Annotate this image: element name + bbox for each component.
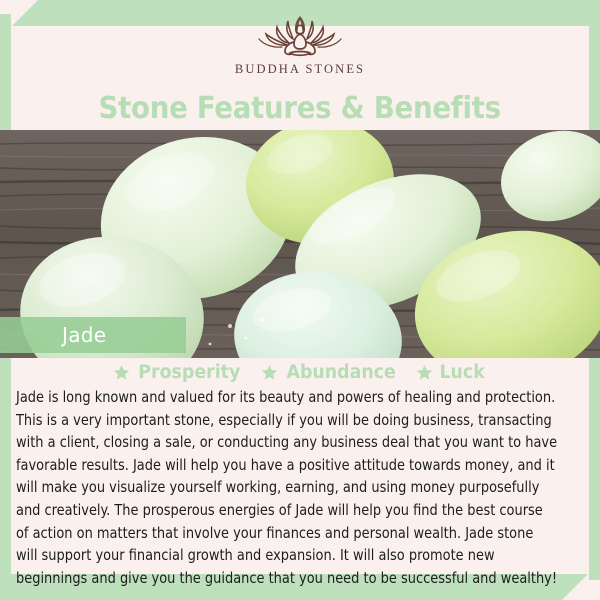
stone-name-label: Jade	[0, 323, 106, 347]
benefit-item-luck: Luck	[416, 362, 486, 383]
star-icon	[416, 364, 433, 381]
star-icon	[261, 364, 278, 381]
benefit-label: Abundance	[286, 362, 395, 383]
brand-name: BUDDHA STONES	[235, 62, 365, 77]
benefit-item-prosperity: Prosperity	[113, 362, 244, 383]
benefit-label: Luck	[440, 362, 485, 383]
stone-info-card: BUDDHA STONES Stone Features & Benefits	[0, 0, 600, 600]
star-icon	[113, 364, 130, 381]
brand-logo: BUDDHA STONES	[0, 12, 600, 84]
page-title: Stone Features & Benefits	[11, 88, 589, 128]
lotus-meditation-icon	[252, 12, 348, 60]
benefit-item-abundance: Abundance	[261, 362, 399, 383]
page-title-text: Stone Features & Benefits	[99, 91, 501, 126]
stone-description: Jade is long known and valued for its be…	[16, 386, 558, 589]
stone-name-banner: Jade	[0, 317, 186, 353]
benefit-label: Prosperity	[139, 362, 241, 383]
benefits-row: Prosperity Abundance Luck	[11, 359, 589, 385]
